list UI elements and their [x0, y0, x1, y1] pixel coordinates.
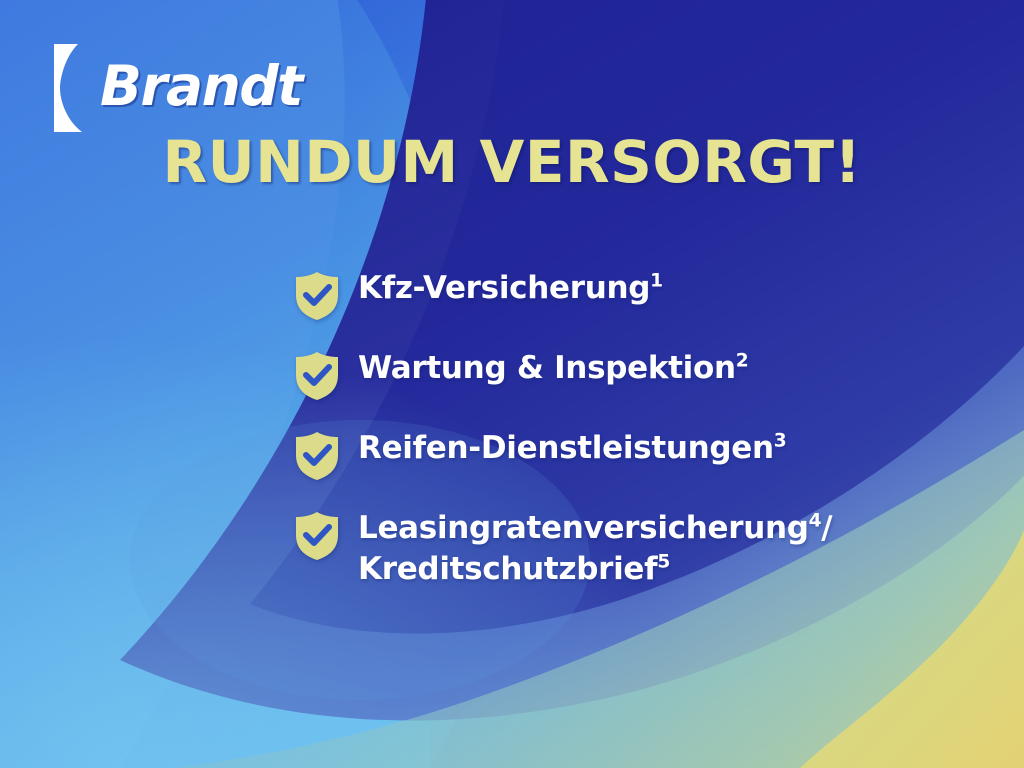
footnote-marker: 4 — [809, 511, 822, 532]
benefit-label-text-line2: Kreditschutzbrief — [358, 551, 657, 587]
list-item: Wartung & Inspektion2 — [292, 348, 992, 402]
promotional-banner: Brandt RUNDUM VERSORGT! Kfz-Versicherung… — [0, 0, 1024, 768]
shield-check-icon — [292, 430, 342, 482]
brand-name: Brandt — [100, 59, 302, 118]
footnote-marker: 2 — [736, 351, 749, 372]
list-item-label: Wartung & Inspektion2 — [358, 348, 748, 389]
brandt-crescent-mark-icon — [52, 42, 98, 134]
list-item-label: Kfz-Versicherung1 — [358, 268, 663, 309]
list-item-label: Reifen-Dienstleistungen3 — [358, 428, 786, 469]
benefit-list: Kfz-Versicherung1 Wartung & Inspektion2 … — [292, 268, 992, 616]
benefit-label-text: Kfz-Versicherung — [358, 270, 650, 306]
list-item: Leasingratenversicherung4/ Kreditschutzb… — [292, 508, 992, 590]
page-title: RUNDUM VERSORGT! — [0, 133, 1024, 191]
brand-logo[interactable]: Brandt — [52, 42, 302, 134]
list-item-label: Leasingratenversicherung4/ Kreditschutzb… — [358, 508, 832, 590]
list-item: Kfz-Versicherung1 — [292, 268, 992, 322]
benefit-label-separator: / — [821, 510, 832, 546]
list-item: Reifen-Dienstleistungen3 — [292, 428, 992, 482]
shield-check-icon — [292, 270, 342, 322]
shield-check-icon — [292, 510, 342, 562]
benefit-label-text: Leasingratenversicherung — [358, 510, 809, 546]
footnote-marker: 5 — [657, 552, 670, 573]
shield-check-icon — [292, 350, 342, 402]
footnote-marker: 1 — [650, 271, 663, 292]
benefit-label-text: Wartung & Inspektion — [358, 350, 736, 386]
benefit-label-text: Reifen-Dienstleistungen — [358, 430, 774, 466]
footnote-marker: 3 — [774, 431, 787, 452]
